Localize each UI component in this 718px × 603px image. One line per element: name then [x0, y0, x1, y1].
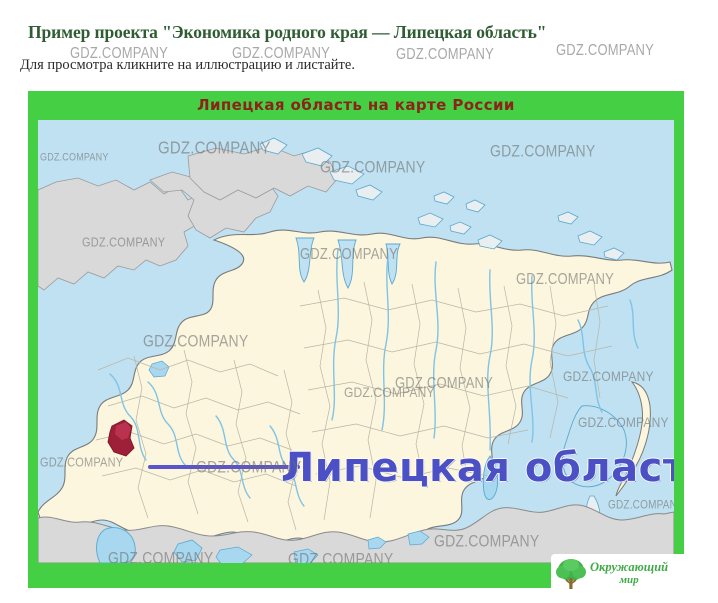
russia-map-graphic — [38, 120, 674, 563]
watermark: GDZ.COMPANY — [396, 45, 494, 63]
page-title: Пример проекта "Экономика родного края —… — [28, 21, 700, 43]
map-card-title: Липецкая область на карте России — [28, 91, 684, 120]
map-image[interactable]: Липецкая область GDZ.COMPANYGDZ.COMPANYG… — [38, 120, 674, 563]
watermark: GDZ.COMPANY — [556, 41, 654, 59]
map-card[interactable]: Липецкая область на карте России — [28, 91, 684, 588]
tree-icon — [555, 557, 587, 591]
brand-line-1: Окружающий — [590, 560, 668, 574]
brand-logo[interactable]: Окружающий мир — [551, 554, 689, 594]
brand-logo-text: Окружающий мир — [590, 561, 668, 587]
brand-line-2: мир — [590, 574, 668, 587]
page-subtitle: Для просмотра кликните на иллюстрацию и … — [20, 56, 355, 74]
